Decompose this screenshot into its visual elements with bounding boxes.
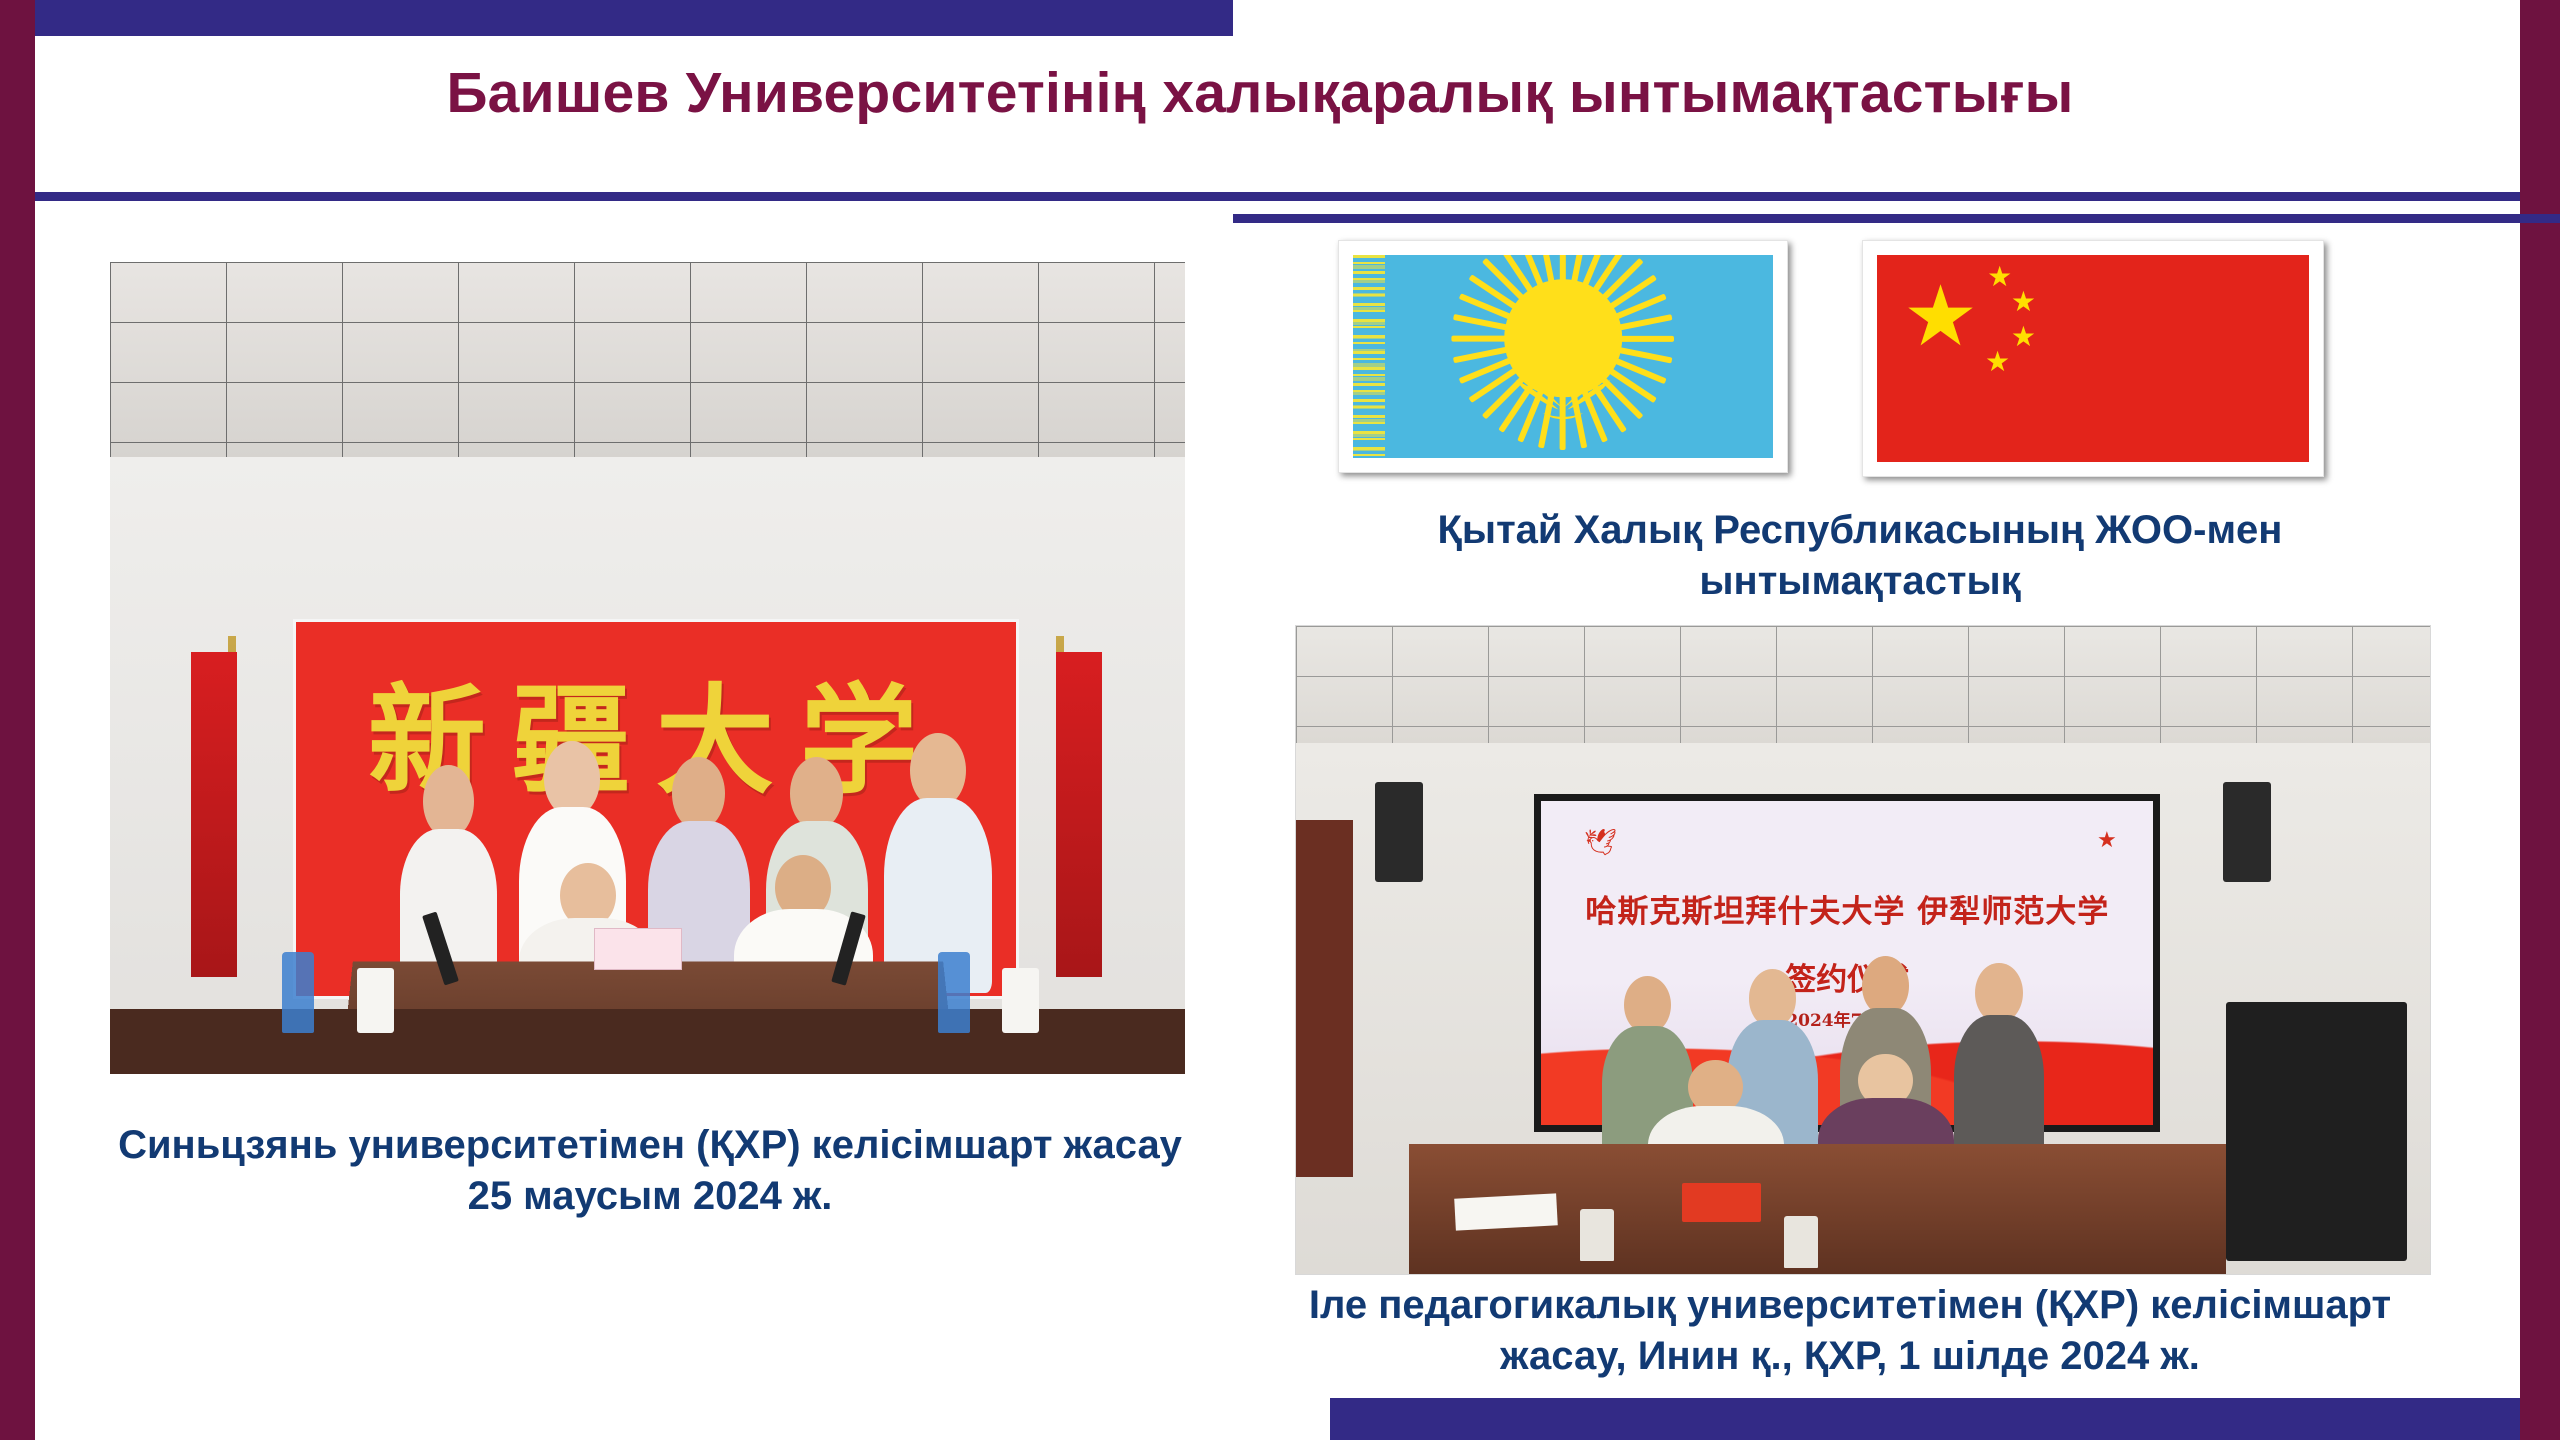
star-decor-icon: ★ — [2097, 827, 2117, 853]
kazakhstan-flag-field — [1353, 255, 1773, 458]
small-star-icon: ★ — [1985, 348, 2010, 376]
left-photo: 新疆大学 — [110, 262, 1185, 1074]
slide-title: Баишев Университетінің халықаралық ынтым… — [120, 62, 2400, 125]
equipment-rack — [2226, 1002, 2407, 1261]
upper-divider-rule — [35, 192, 2520, 201]
paper-document — [1454, 1194, 1558, 1232]
red-flag-right — [1056, 652, 1102, 977]
top-accent-bar — [35, 0, 1233, 36]
lower-divider-rule — [1233, 214, 2560, 223]
water-bottle — [282, 952, 314, 1033]
kazakh-ornament-icon — [1353, 255, 1385, 458]
small-star-icon: ★ — [2011, 288, 2036, 316]
ceiling-tiles — [1296, 626, 2430, 743]
door — [1296, 820, 1353, 1176]
presentation-slide: Баишев Университетінің халықаралық ынтым… — [0, 0, 2560, 1440]
right-photo: 🕊 ★ 哈斯克斯坦拜什夫大学 伊犁师范大学 签约仪式 2024年7月1日 — [1296, 626, 2430, 1274]
flags-caption: Қытай Халық Республикасының ЖОО-мен ынты… — [1300, 505, 2420, 607]
china-flag: ★ ★ ★ ★ ★ — [1862, 240, 2324, 477]
teapot — [1784, 1216, 1818, 1268]
desk-name-card — [594, 928, 682, 971]
right-photo-caption: Іле педагогикалық университетімен (ҚХР) … — [1250, 1280, 2450, 1382]
desk-name-card — [1682, 1183, 1761, 1222]
large-star-icon: ★ — [1903, 274, 1978, 358]
red-flag-left — [191, 652, 237, 977]
steppe-eagle-icon — [1466, 371, 1659, 424]
ceiling-tiles — [110, 262, 1185, 457]
bottom-accent-bar — [1330, 1398, 2520, 1440]
dove-decor-icon: 🕊 — [1584, 827, 1617, 858]
small-star-icon: ★ — [2011, 323, 2036, 351]
wall-speaker — [2223, 782, 2271, 882]
person-standing — [1954, 963, 2045, 1170]
water-bottle — [938, 952, 970, 1033]
china-flag-field: ★ ★ ★ ★ ★ — [1877, 255, 2309, 462]
screen-title-line1: 哈斯克斯坦拜什夫大学 伊犁师范大学 — [1541, 886, 2153, 931]
small-star-icon: ★ — [1987, 263, 2012, 291]
kazakhstan-flag — [1338, 240, 1788, 473]
tea-cup — [1002, 968, 1039, 1033]
left-accent-strip — [0, 0, 35, 1440]
tea-cup — [357, 968, 394, 1033]
teapot — [1580, 1209, 1614, 1261]
wall-speaker — [1375, 782, 1423, 882]
left-photo-caption: Синьцзянь университетімен (ҚХР) келісімш… — [95, 1120, 1205, 1222]
